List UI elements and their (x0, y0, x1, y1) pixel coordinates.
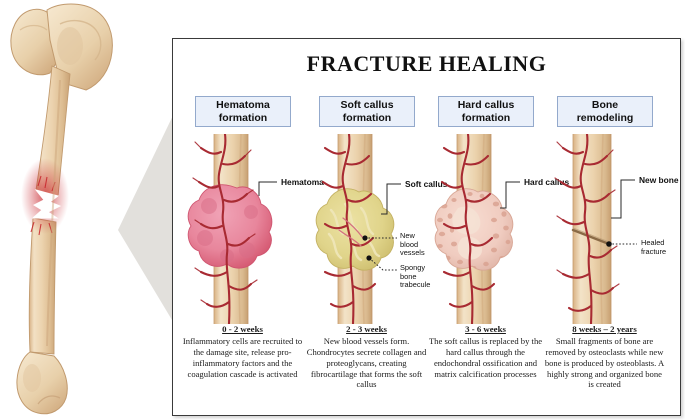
header-line-1: Soft callus (340, 99, 393, 111)
header-line-2: formation (343, 112, 391, 124)
zoom-connector-wedge (60, 80, 190, 350)
header-line-1: Bone (592, 99, 618, 111)
hard-callus-svg (424, 134, 548, 324)
stage-illustration-hard-callus-formation: Hard callus (424, 134, 548, 324)
header-line-1: Hematoma (216, 99, 270, 111)
stage-caption-bone-remodeling: 8 weeks – 2 years Small fragments of bon… (544, 324, 665, 390)
stage-header-bone-remodeling[interactable]: Bone remodeling (557, 96, 653, 127)
stage-caption-hematoma-formation: 0 - 2 weeks Inflammatory cells are recru… (182, 324, 303, 379)
new-blood-vessels-marker (362, 235, 367, 240)
header-line-2: formation (462, 112, 510, 124)
new-bone-leader-line (611, 180, 635, 218)
new-bone-label: New bone (639, 175, 679, 185)
header-line-2: remodeling (577, 112, 634, 124)
stage-weeks: 2 - 3 weeks (306, 324, 427, 335)
hematoma-svg (181, 134, 305, 324)
fracture-healing-panel: FRACTURE HEALING Hematoma formation Soft… (172, 38, 681, 416)
soft-callus-svg (305, 134, 429, 324)
stage-weeks: 3 - 6 weeks (425, 324, 546, 335)
hard-callus-leader-line (500, 182, 520, 208)
stage-caption-text: The soft callus is replaced by the hard … (429, 336, 542, 378)
header-line-2: formation (219, 112, 267, 124)
stage-weeks: 0 - 2 weeks (182, 324, 303, 335)
stage-header-hematoma-formation[interactable]: Hematoma formation (195, 96, 291, 127)
spongy-bone-marker (366, 255, 371, 260)
stage-caption-text: New blood vessels form. Chondrocytes sec… (307, 336, 427, 389)
stage-illustration-hematoma-formation: Hematoma (181, 134, 305, 324)
stage-illustration-soft-callus-formation: Soft callus New blood vessels Spongy bon… (305, 134, 429, 324)
stage-caption-soft-callus-formation: 2 - 3 weeks New blood vessels form. Chon… (306, 324, 427, 390)
stage-caption-text: Small fragments of bone are removed by o… (545, 336, 664, 389)
page-title: FRACTURE HEALING (173, 51, 680, 77)
stage-illustration-bone-remodeling: New bone Healed fracture (543, 134, 667, 324)
stage-header-soft-callus-formation[interactable]: Soft callus formation (319, 96, 415, 127)
healed-fracture-marker (606, 241, 612, 247)
bone-remodeling-svg (543, 134, 667, 324)
header-line-1: Hard callus (458, 99, 515, 111)
stage-caption-hard-callus-formation: 3 - 6 weeks The soft callus is replaced … (425, 324, 546, 379)
healed-fracture-label: Healed fracture (641, 239, 675, 256)
stage-caption-text: Inflammatory cells are recruited to the … (183, 336, 302, 378)
stage-header-hard-callus-formation[interactable]: Hard callus formation (438, 96, 534, 127)
stage-weeks: 8 weeks – 2 years (544, 324, 665, 335)
hematoma-leader-line (259, 182, 277, 196)
